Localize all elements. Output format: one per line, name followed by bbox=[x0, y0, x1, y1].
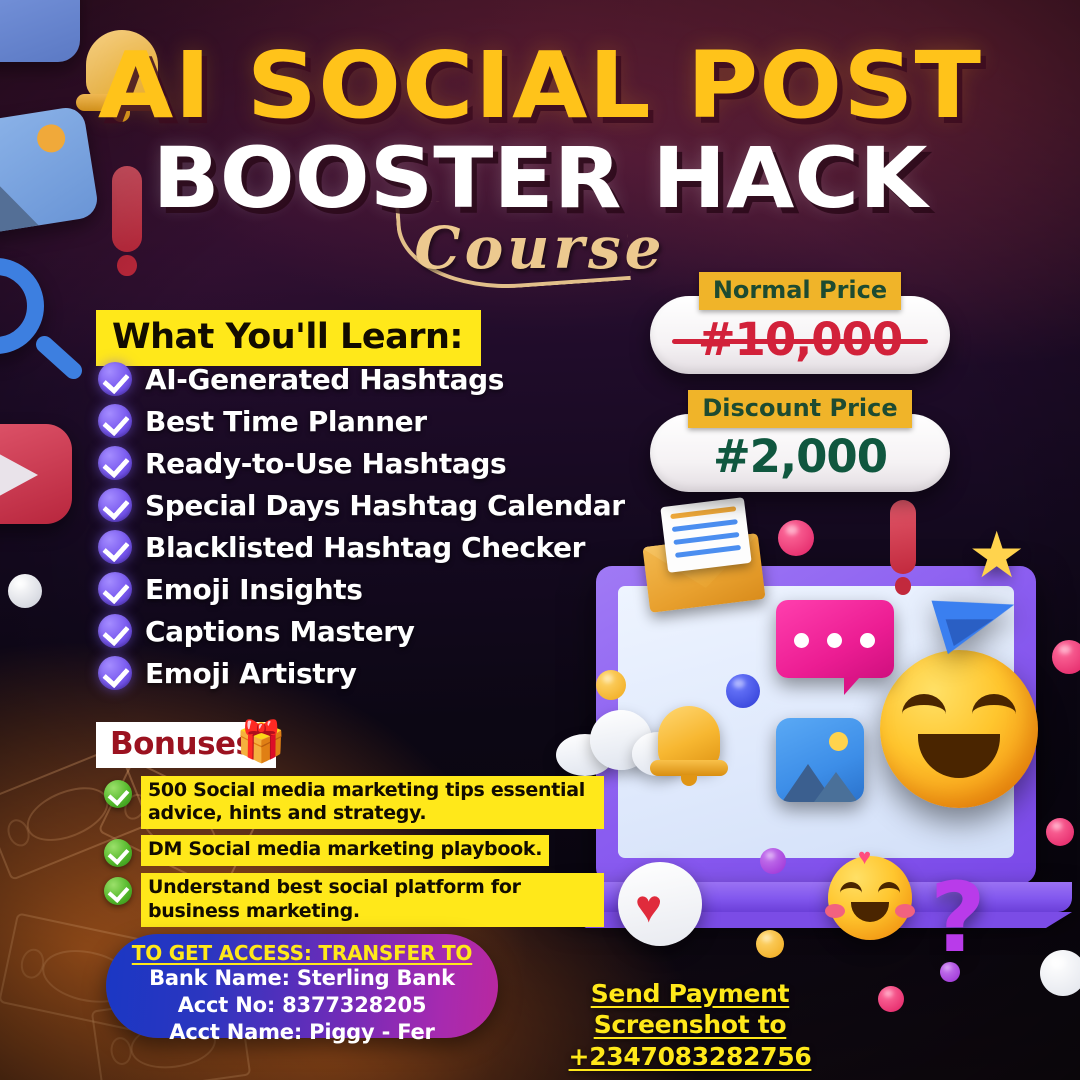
check-icon bbox=[104, 839, 132, 867]
bonuses-heading-label: Bonuses bbox=[110, 726, 254, 762]
check-icon bbox=[98, 404, 132, 438]
learn-item-label: Emoji Insights bbox=[145, 573, 363, 606]
bank-details-box: TO GET ACCESS: TRANSFER TO Bank Name: St… bbox=[106, 934, 498, 1038]
check-icon bbox=[98, 614, 132, 648]
decor-orb bbox=[1040, 950, 1080, 996]
heart-icon: ♥ bbox=[618, 862, 702, 946]
learn-list: AI-Generated Hashtags Best Time Planner … bbox=[98, 358, 625, 694]
check-icon bbox=[104, 780, 132, 808]
send-screenshot-note: Send Payment Screenshot to +234708328275… bbox=[510, 978, 870, 1072]
learn-item: Ready-to-Use Hashtags bbox=[98, 442, 625, 484]
pricing-block: Normal Price #10,000 Discount Price #2,0… bbox=[650, 272, 950, 492]
title-line-2: BOOSTER HACK bbox=[0, 136, 1080, 220]
discount-price-value: #2,000 bbox=[713, 424, 887, 483]
gift-icon: 🎁 bbox=[236, 718, 286, 765]
learn-item: Special Days Hashtag Calendar bbox=[98, 484, 625, 526]
bank-header: TO GET ACCESS: TRANSFER TO bbox=[106, 941, 498, 965]
title-block: AI SOCIAL POST BOOSTER HACK Course bbox=[0, 42, 1080, 282]
strikethrough-line bbox=[672, 339, 928, 344]
heart-small-icon: ♥ bbox=[858, 844, 871, 870]
bank-account-number: Acct No: 8377328205 bbox=[106, 992, 498, 1019]
bank-account-name: Acct Name: Piggy - Fer bbox=[106, 1019, 498, 1046]
learn-item-label: Captions Mastery bbox=[145, 615, 415, 648]
learn-item: Emoji Artistry bbox=[98, 652, 625, 694]
smiling-face-with-hearts-icon: ♥ bbox=[828, 856, 912, 940]
send-phone-number: +2347083282756 bbox=[510, 1041, 870, 1072]
bonus-item-label: DM Social media marketing playbook. bbox=[141, 835, 549, 865]
check-icon bbox=[104, 877, 132, 905]
decor-orb bbox=[760, 848, 786, 874]
decor-orb bbox=[940, 962, 960, 982]
learn-item: Emoji Insights bbox=[98, 568, 625, 610]
smiling-face-icon bbox=[880, 650, 1038, 808]
normal-price-label: Normal Price bbox=[699, 272, 901, 310]
decor-orb bbox=[1046, 818, 1074, 846]
check-icon bbox=[98, 488, 132, 522]
decor-orb bbox=[778, 520, 814, 556]
learn-item-label: Emoji Artistry bbox=[145, 657, 356, 690]
learn-item-label: Blacklisted Hashtag Checker bbox=[145, 531, 585, 564]
title-line-1: AI SOCIAL POST bbox=[0, 42, 1080, 130]
question-mark-icon: ? bbox=[930, 862, 986, 974]
heart-glyph: ♥ bbox=[635, 883, 662, 929]
promo-poster: AI SOCIAL POST BOOSTER HACK Course What … bbox=[0, 0, 1080, 1080]
play-button-icon bbox=[0, 424, 72, 524]
learn-item: AI-Generated Hashtags bbox=[98, 358, 625, 400]
discount-price-label: Discount Price bbox=[688, 390, 911, 428]
decor-orb bbox=[1052, 640, 1080, 674]
chat-bubble-icon bbox=[776, 600, 894, 678]
check-icon bbox=[98, 362, 132, 396]
bonus-item-label: Understand best social platform for busi… bbox=[141, 873, 604, 926]
check-icon bbox=[98, 656, 132, 690]
decor-orb bbox=[726, 674, 760, 708]
bank-name: Bank Name: Sterling Bank bbox=[106, 965, 498, 992]
check-icon bbox=[98, 572, 132, 606]
bonus-item: Understand best social platform for busi… bbox=[104, 873, 604, 926]
exclamation-icon bbox=[890, 500, 916, 600]
envelope-icon bbox=[646, 524, 762, 606]
check-icon bbox=[98, 446, 132, 480]
bell-icon bbox=[650, 700, 728, 784]
learn-item-label: Special Days Hashtag Calendar bbox=[145, 489, 625, 522]
bonus-item: 500 Social media marketing tips essentia… bbox=[104, 776, 604, 829]
decor-orb bbox=[8, 574, 42, 608]
send-line-1: Send Payment Screenshot to bbox=[510, 978, 870, 1041]
bonus-item-label: 500 Social media marketing tips essentia… bbox=[141, 776, 604, 829]
normal-price-value-wrap: #10,000 bbox=[698, 305, 902, 366]
image-icon bbox=[776, 718, 864, 802]
bonus-item: DM Social media marketing playbook. bbox=[104, 835, 604, 867]
learn-item-label: Ready-to-Use Hashtags bbox=[145, 447, 506, 480]
bonuses-list: 500 Social media marketing tips essentia… bbox=[104, 776, 604, 933]
envelope-letter bbox=[660, 497, 751, 573]
learn-item-label: Best Time Planner bbox=[145, 405, 427, 438]
decor-orb bbox=[756, 930, 784, 958]
learn-item-label: AI-Generated Hashtags bbox=[145, 363, 504, 396]
learn-item: Blacklisted Hashtag Checker bbox=[98, 526, 625, 568]
learn-item: Best Time Planner bbox=[98, 400, 625, 442]
check-icon bbox=[98, 530, 132, 564]
learn-item: Captions Mastery bbox=[98, 610, 625, 652]
decor-orb bbox=[878, 986, 904, 1012]
